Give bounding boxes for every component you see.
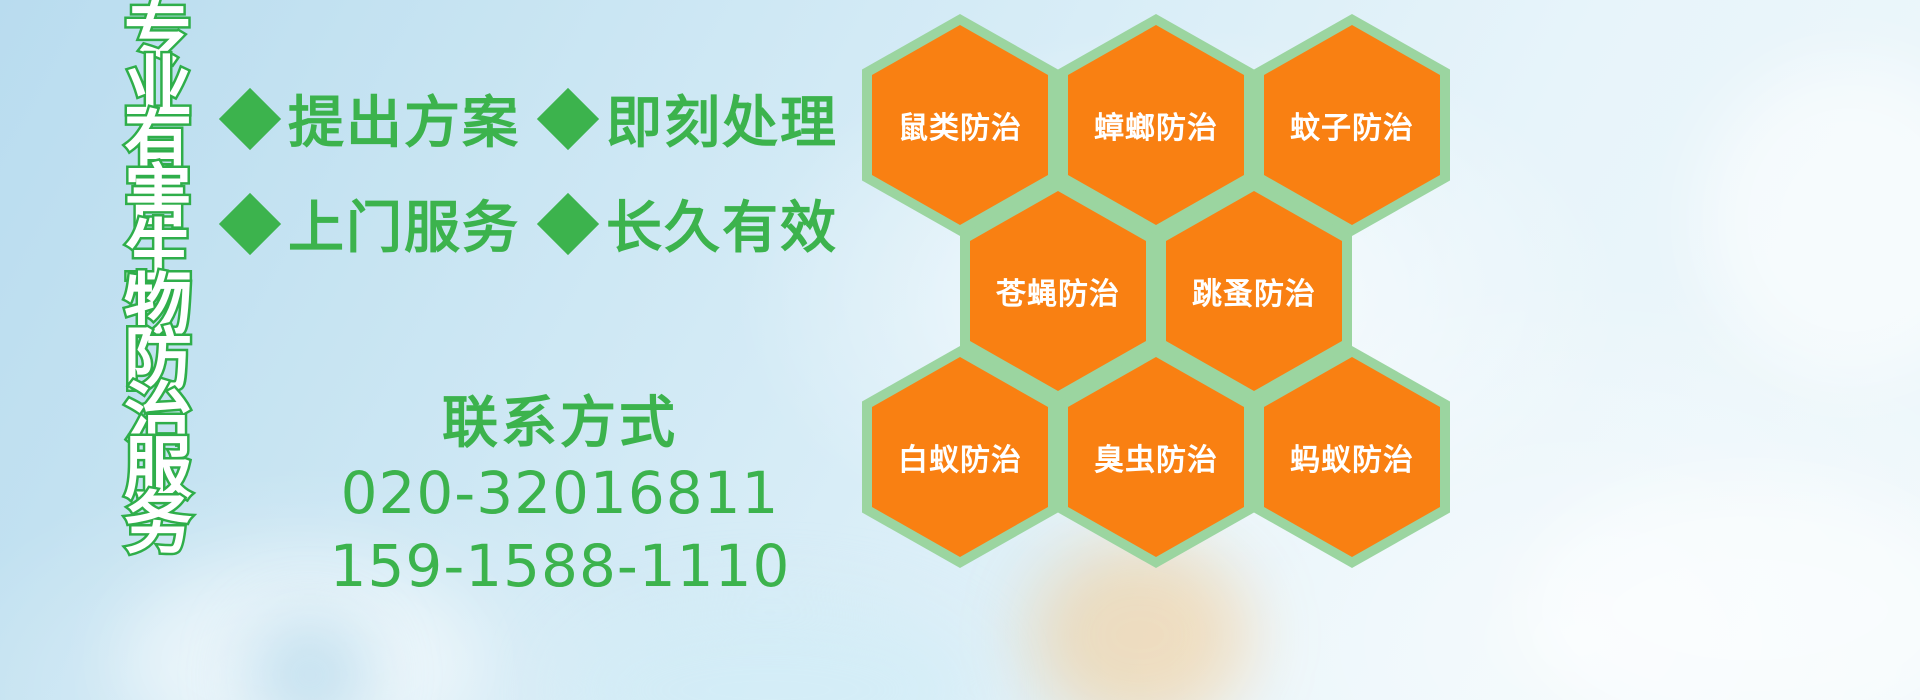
phone-number-landline[interactable]: 020-32016811 [300,457,820,530]
background-glow-bottom-center [560,600,980,700]
hex-inner: 蟑螂防治 [1068,25,1244,225]
service-hex-label: 蚊子防治 [1290,103,1414,147]
contact-title: 联系方式 [300,390,820,457]
service-hex-label: 跳蚤防治 [1192,269,1316,313]
service-hex-label: 蟑螂防治 [1094,103,1218,147]
feature-label: 长久有效 [606,183,838,264]
hex-inner: 蚂蚁防治 [1264,357,1440,557]
promo-banner: 专 业 有 害 生 物 防 治 服 务 提出方案 即刻处理 上门服务 [0,0,1920,700]
service-hex-grid: 鼠类防治 蟑螂防治 蚊子防治 苍蝇防治 跳蚤防治 白蚁防治 [862,6,1442,566]
feature-list: 提出方案 即刻处理 上门服务 长久有效 [228,78,868,288]
feature-label: 即刻处理 [606,78,838,159]
diamond-bullet-icon [219,192,281,254]
background-glow-bottom-right [1520,480,1920,700]
feature-item: 提出方案 [228,78,520,159]
service-hex-label: 鼠类防治 [898,103,1022,147]
feature-label: 提出方案 [288,78,520,159]
hex-inner: 鼠类防治 [872,25,1048,225]
vertical-headline: 专 业 有 害 生 物 防 治 服 务 [110,8,206,552]
hex-inner: 白蚁防治 [872,357,1048,557]
feature-item: 长久有效 [546,183,838,264]
background-glow-small-left [250,620,370,700]
contact-block: 联系方式 020-32016811 159-1588-1110 [300,390,820,602]
feature-label: 上门服务 [288,183,520,264]
diamond-bullet-icon [537,192,599,254]
hex-inner: 苍蝇防治 [970,191,1146,391]
service-hex-label: 蚂蚁防治 [1290,435,1414,479]
feature-item: 上门服务 [228,183,520,264]
hex-inner: 跳蚤防治 [1166,191,1342,391]
phone-number-mobile[interactable]: 159-1588-1110 [300,530,820,603]
feature-row: 提出方案 即刻处理 [228,78,868,159]
service-hex-label: 苍蝇防治 [996,269,1120,313]
vertical-headline-char: 务 [124,498,192,552]
service-hex-label: 白蚁防治 [898,435,1022,479]
feature-item: 即刻处理 [546,78,838,159]
hex-inner: 蚊子防治 [1264,25,1440,225]
service-hex-label: 臭虫防治 [1094,435,1218,479]
feature-row: 上门服务 长久有效 [228,183,868,264]
background-glow-top-right [1700,60,1920,380]
diamond-bullet-icon [537,87,599,149]
hex-inner: 臭虫防治 [1068,357,1244,557]
diamond-bullet-icon [219,87,281,149]
